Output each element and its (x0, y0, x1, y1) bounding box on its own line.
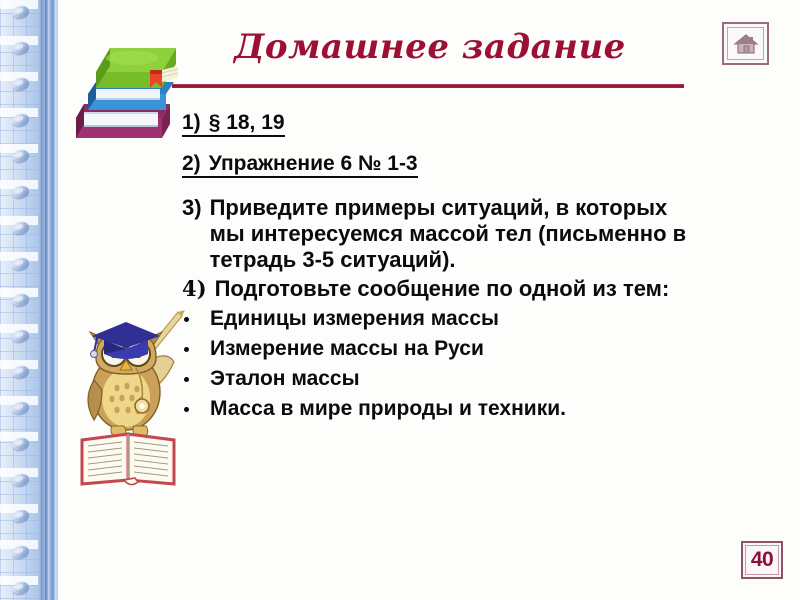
list-item-1: 1)§ 18, 19 (182, 112, 702, 137)
graduate-owl-icon (74, 296, 190, 488)
item-1-marker: 1) (182, 111, 209, 134)
list-item: Масса в мире природы и техники. (182, 394, 702, 424)
presentation-slide: Домашнее задание 1)§ 18, 19 2)Упражнение… (0, 0, 800, 600)
page-title: Домашнее задание (172, 27, 688, 67)
binding-bars (38, 0, 60, 600)
stack-of-books-icon (66, 26, 186, 156)
spiral-rings (0, 0, 40, 600)
item-4-marker: 4) (182, 276, 215, 301)
list-item-4: 4) Подготовьте сообщение по одной из тем… (182, 276, 702, 302)
topic-bullet-list: Единицы измерения массы Измерение массы … (182, 304, 702, 423)
item-1-text: § 18, 19 (209, 111, 285, 134)
home-button[interactable] (722, 22, 769, 65)
item-2-text: Упражнение 6 № 1-3 (209, 152, 418, 175)
list-item-2: 2)Упражнение 6 № 1-3 (182, 153, 702, 178)
slide-number-badge: 40 (741, 541, 783, 579)
item-4-text: Подготовьте сообщение по одной из тем: (215, 276, 702, 302)
list-item: Единицы измерения массы (182, 304, 702, 334)
item-2-marker: 2) (182, 152, 209, 175)
home-button-frame (727, 27, 764, 60)
title-divider (172, 84, 684, 88)
homework-list: 1)§ 18, 19 2)Упражнение 6 № 1-3 3) Приве… (182, 112, 702, 424)
home-icon (733, 33, 759, 55)
item-3-text: Приведите примеры ситуаций, в которых мы… (210, 195, 702, 274)
list-item: Измерение массы на Руси (182, 334, 702, 364)
item-3-marker: 3) (182, 195, 210, 221)
spiral-notebook-binding (0, 0, 58, 600)
slide-number-value: 40 (745, 545, 779, 575)
list-item: Эталон массы (182, 364, 702, 394)
list-item-3: 3) Приведите примеры ситуаций, в которых… (182, 195, 702, 274)
